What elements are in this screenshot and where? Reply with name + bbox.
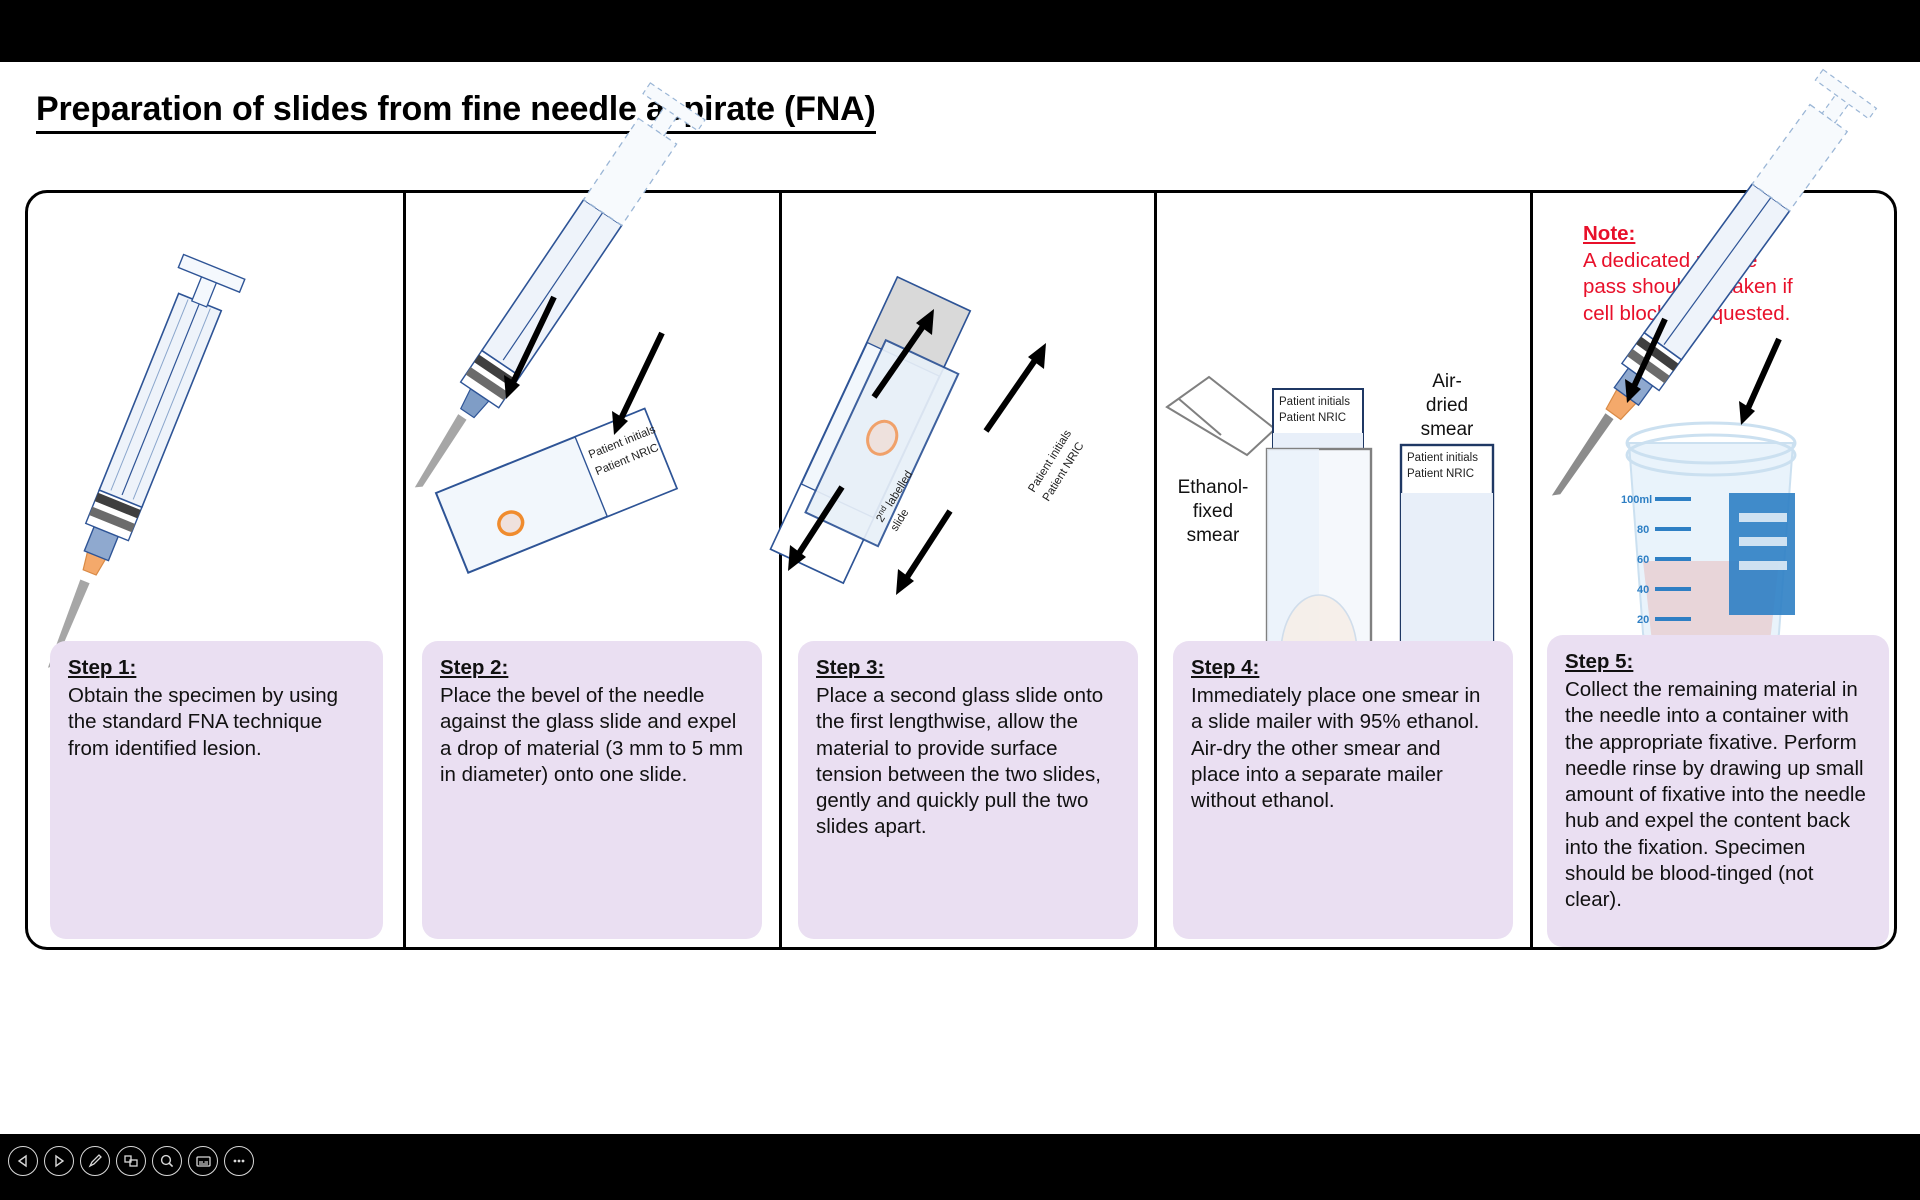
illustration-syringe-on-slide: Patient initials Patient NRIC — [406, 193, 779, 713]
step-panel-2: Patient initials Patient NRIC — [406, 193, 779, 947]
slide-label-line1: Patient initials — [1279, 396, 1350, 408]
next-slide-button[interactable] — [44, 1146, 74, 1176]
ethanol-caption-line2: fixed — [1193, 501, 1233, 522]
illustration-two-slides-pull: Patient initials Patient NRIC 2nd labell… — [782, 193, 1154, 713]
step-1-caption: Step 1: Obtain the specimen by using the… — [50, 641, 383, 939]
step-2-label: Step 2: — [440, 655, 508, 681]
slide-label-line2: Patient NRIC — [1407, 468, 1474, 480]
step-panel-5: Note: A dedicated needle pass should be … — [1533, 193, 1897, 947]
step-4-label: Step 4: — [1191, 655, 1259, 681]
step-1-text: Obtain the specimen by using the standar… — [68, 683, 365, 762]
magnifier-icon — [159, 1153, 175, 1169]
step-4-caption: Step 4: Immediately place one smear in a… — [1173, 641, 1513, 939]
airdried-caption-line3: smear — [1421, 419, 1474, 440]
step-panel-3: Patient initials Patient NRIC 2nd labell… — [782, 193, 1154, 947]
page-title: Preparation of slides from fine needle a… — [36, 90, 876, 134]
illustration-slide-mailers: Patient initials Patient NRIC 95% ethano… — [1157, 193, 1530, 713]
graduation-100ml: 100ml — [1621, 494, 1652, 506]
graduation-40: 40 — [1637, 584, 1649, 596]
step-panel-1: Step 1: Obtain the specimen by using the… — [28, 193, 403, 947]
pen-tool-button[interactable] — [80, 1146, 110, 1176]
ellipsis-icon — [231, 1153, 247, 1169]
slide-canvas: Preparation of slides from fine needle a… — [0, 62, 1920, 1134]
grid-icon — [123, 1153, 139, 1169]
presentation-toolbar — [8, 1146, 254, 1176]
airdried-caption-line1: Air- — [1432, 371, 1462, 392]
triangle-left-icon — [16, 1154, 30, 1168]
step-3-text: Place a second glass slide onto the firs… — [816, 683, 1120, 840]
captions-icon — [195, 1153, 212, 1170]
step-3-caption: Step 3: Place a second glass slide onto … — [798, 641, 1138, 939]
step-2-caption: Step 2: Place the bevel of the needle ag… — [422, 641, 762, 939]
step-3-label: Step 3: — [816, 655, 884, 681]
graduation-20: 20 — [1637, 614, 1649, 626]
graduation-60: 60 — [1637, 554, 1649, 566]
more-options-button[interactable] — [224, 1146, 254, 1176]
airdried-caption-line2: dried — [1426, 395, 1468, 416]
triangle-right-icon — [52, 1154, 66, 1168]
step-panel-4: Patient initials Patient NRIC 95% ethano… — [1157, 193, 1530, 947]
graduation-80: 80 — [1637, 524, 1649, 536]
ethanol-caption-line3: smear — [1187, 525, 1240, 546]
pen-icon — [87, 1153, 103, 1169]
all-slides-button[interactable] — [116, 1146, 146, 1176]
ethanol-caption-line1: Ethanol- — [1178, 477, 1249, 498]
pull-arrow-up-right — [986, 343, 1046, 431]
step-4-text: Immediately place one smear in a slide m… — [1191, 683, 1495, 814]
mailer-lid — [1167, 377, 1275, 455]
subtitles-button[interactable] — [188, 1146, 218, 1176]
step-1-label: Step 1: — [68, 655, 136, 681]
previous-slide-button[interactable] — [8, 1146, 38, 1176]
steps-frame: Step 1: Obtain the specimen by using the… — [25, 190, 1897, 950]
slide-label-line2: Patient NRIC — [1279, 412, 1346, 424]
step-5-text: Collect the remaining material in the ne… — [1565, 677, 1871, 913]
step-5-label: Step 5: — [1565, 649, 1633, 675]
presentation-stage: Preparation of slides from fine needle a… — [0, 0, 1920, 1200]
step-5-caption: Step 5: Collect the remaining material i… — [1547, 635, 1889, 947]
zoom-in-button[interactable] — [152, 1146, 182, 1176]
motion-arrow-down-right — [1739, 339, 1779, 425]
step-2-text: Place the bevel of the needle against th… — [440, 683, 744, 788]
slide-label-line1: Patient initials — [1407, 452, 1478, 464]
illustration-syringe-upright — [28, 193, 403, 713]
